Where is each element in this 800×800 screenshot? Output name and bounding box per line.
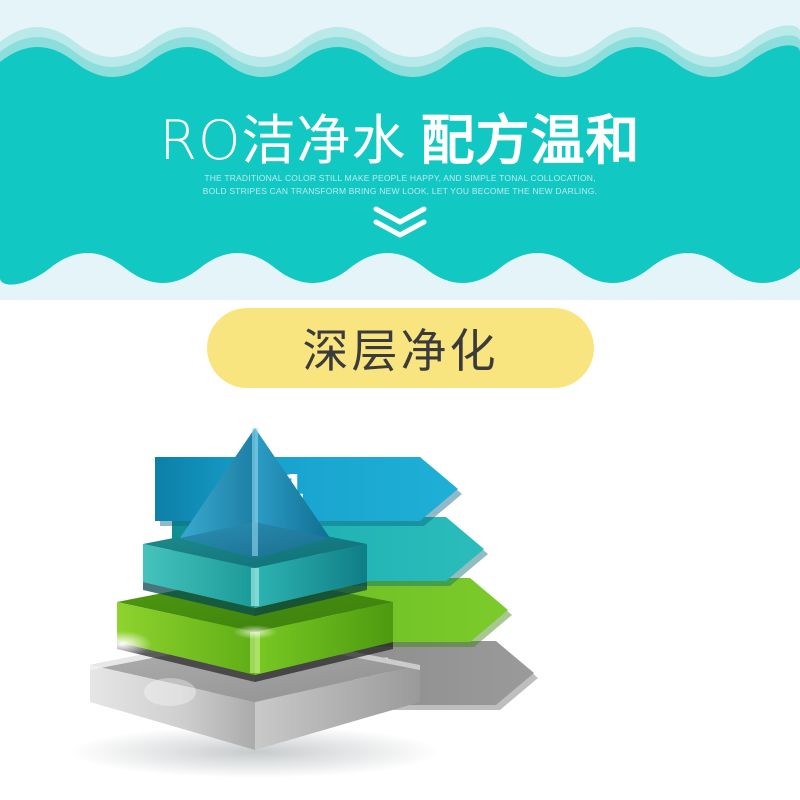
pyramid-sparkle-center [233,625,277,639]
pyramid-sparkle-green [92,631,152,657]
promo-page: RO洁净水配方温和 THE TRADITIONAL COLOR STILL MA… [0,0,800,800]
section-badge: 深层净化 [207,308,594,388]
pyramid-sparkle-gray [144,678,196,706]
title-bold-part: 配方温和 [421,109,641,172]
page-title: RO洁净水配方温和 [0,110,800,172]
hero-banner: RO洁净水配方温和 THE TRADITIONAL COLOR STILL MA… [0,0,800,300]
section-badge-label: 深层净化 [303,315,499,381]
scroll-hint[interactable] [0,205,800,246]
title-light-part: RO洁净水 [159,109,406,172]
pyramid-diagram: 04 03 02 01 [0,410,800,800]
pyramid-graphic: 04 03 02 01 [60,420,740,790]
hero-subtitle-line-2: STRIPES CAN TRANSFORM BRING NEW LOOK, LE… [229,186,597,196]
hero-subtitle: THE TRADITIONAL COLOR STILL MAKE PEOPLE … [200,172,600,198]
double-chevron-down-icon[interactable] [370,205,430,241]
